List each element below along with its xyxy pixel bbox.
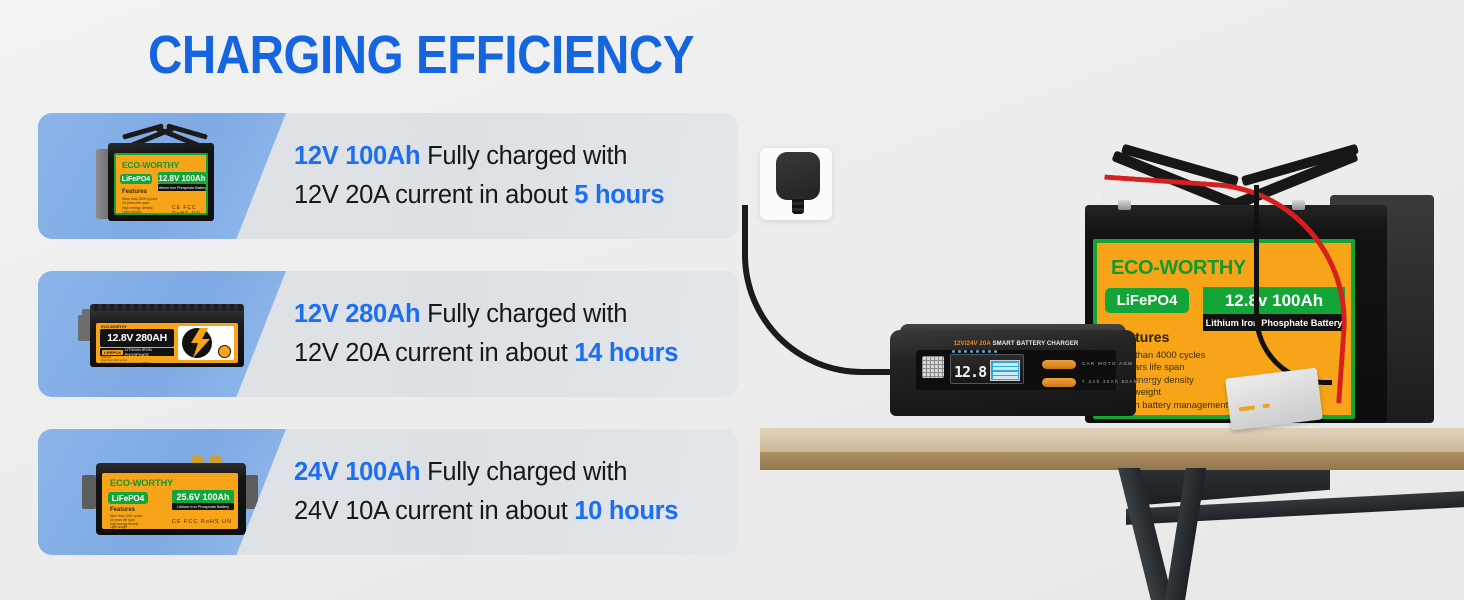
battery-chemistry-strip: LIFEPO4 LITHIUM IRON PHOSPHATE — [100, 348, 174, 356]
card-line-2: 12V 20A current in about 5 hours — [294, 176, 734, 215]
battery-image-panel-2: ECO-WORTHY 12.8V 280AH LIFEPO4 LITHIUM I… — [38, 271, 286, 397]
lcd-indicator-dots — [952, 350, 1022, 353]
card-line-1: 12V 100Ah Fully charged with — [294, 137, 734, 176]
card-line-1: 12V 280Ah Fully charged with — [294, 295, 734, 334]
card-12v-280ah[interactable]: ECO-WORTHY 12.8V 280AH LIFEPO4 LITHIUM I… — [38, 271, 738, 397]
lightning-bolt-icon — [178, 326, 234, 360]
battery-label: ECO-WORTHY LiFePO4 12.8V 100Ah Lithium I… — [114, 153, 208, 215]
power-plug-icon — [776, 152, 820, 200]
table-surface — [760, 428, 1464, 454]
card-line-rest: Fully charged with — [420, 142, 627, 170]
card-24v-100ah[interactable]: ECO-WORTHY LiFePO4 25.6V 100Ah Lithium I… — [38, 429, 738, 555]
charger-mode-button-2[interactable] — [1042, 378, 1076, 387]
card-12v-100ah[interactable]: ECO-WORTHY LiFePO4 12.8V 100Ah Lithium I… — [38, 113, 738, 239]
cycles-badge — [218, 345, 231, 358]
power-cord — [742, 205, 912, 375]
card-line-2: 24V 10A current in about 10 hours — [294, 492, 734, 531]
battery-illustration-2: ECO-WORTHY 12.8V 280AH LIFEPO4 LITHIUM I… — [38, 271, 286, 397]
battery-features: More than 4000 cycles 10 years life span… — [110, 515, 170, 529]
battery-spec: 12.8V 280AH — [100, 329, 174, 347]
charger-mode-button-1[interactable] — [1042, 360, 1076, 369]
card-hours-highlight: 10 hours — [574, 497, 678, 525]
charger-led-row-2: 7.2Ah 20Ah 50Ah 100Ah — [1082, 379, 1160, 384]
battery-illustration-3: ECO-WORTHY LiFePO4 25.6V 100Ah Lithium I… — [38, 429, 286, 555]
page-title: CHARGING EFFICIENCY — [148, 24, 694, 86]
card-line-rest: Fully charged with — [420, 458, 627, 486]
battery-label: ECO-WORTHY LiFePO4 25.6V 100Ah Lithium I… — [102, 473, 238, 529]
card-text-2: 12V 280Ah Fully charged with 12V 20A cur… — [294, 295, 734, 373]
card-line-rest: 24V 10A current in about — [294, 497, 574, 525]
card-text-1: 12V 100Ah Fully charged with 12V 20A cur… — [294, 137, 734, 215]
card-line-rest: 12V 20A current in about — [294, 181, 574, 209]
card-line-1: 24V 100Ah Fully charged with — [294, 453, 734, 492]
lcd-battery-level-icon — [990, 360, 1020, 381]
charger-led-row-1: CAR MOTO AGM — [1082, 361, 1133, 366]
card-text-3: 24V 100Ah Fully charged with 24V 10A cur… — [294, 453, 734, 531]
card-line-2: 12V 20A current in about 14 hours — [294, 334, 734, 373]
card-line-rest: Fully charged with — [420, 300, 627, 328]
battery-illustration-1: ECO-WORTHY LiFePO4 12.8V 100Ah Lithium I… — [38, 113, 286, 239]
card-spec-highlight: 12V 100Ah — [294, 142, 420, 170]
battery-features: Features More than 4000 cycles Built-in … — [101, 356, 173, 363]
anderson-connector — [1225, 368, 1323, 431]
card-spec-highlight: 24V 100Ah — [294, 458, 420, 486]
charger-lcd-display: 12.8 — [950, 354, 1024, 384]
certification-icons: CE FCC RoHS UN — [172, 205, 206, 215]
charger-title: 12V/24V 20A SMART BATTERY CHARGER — [916, 340, 1116, 347]
battery-handle-icon — [244, 475, 258, 509]
battery-image-panel-1: ECO-WORTHY LiFePO4 12.8V 100Ah Lithium I… — [38, 113, 286, 239]
card-list: ECO-WORTHY LiFePO4 12.8V 100Ah Lithium I… — [38, 113, 738, 587]
lcd-voltage-value: 12.8 — [954, 363, 986, 381]
battery-handle-icon — [82, 475, 96, 509]
battery-label: ECO-WORTHY 12.8V 280AH LIFEPO4 LITHIUM I… — [96, 323, 238, 363]
battery-image-panel-3: ECO-WORTHY LiFePO4 25.6V 100Ah Lithium I… — [38, 429, 286, 555]
card-spec-highlight: 12V 280Ah — [294, 300, 420, 328]
charger-brand-icon — [922, 356, 944, 378]
black-cable — [1254, 185, 1332, 385]
charger-title-rest: SMART BATTERY CHARGER — [991, 340, 1079, 347]
card-hours-highlight: 5 hours — [574, 181, 664, 209]
table-edge — [760, 452, 1464, 470]
card-hours-highlight: 14 hours — [574, 339, 678, 367]
card-line-rest: 12V 20A current in about — [294, 339, 574, 367]
charger-voltage: 12V/24V 20A — [954, 340, 991, 347]
certification-icons: CE FCC RoHS UN — [172, 519, 232, 525]
